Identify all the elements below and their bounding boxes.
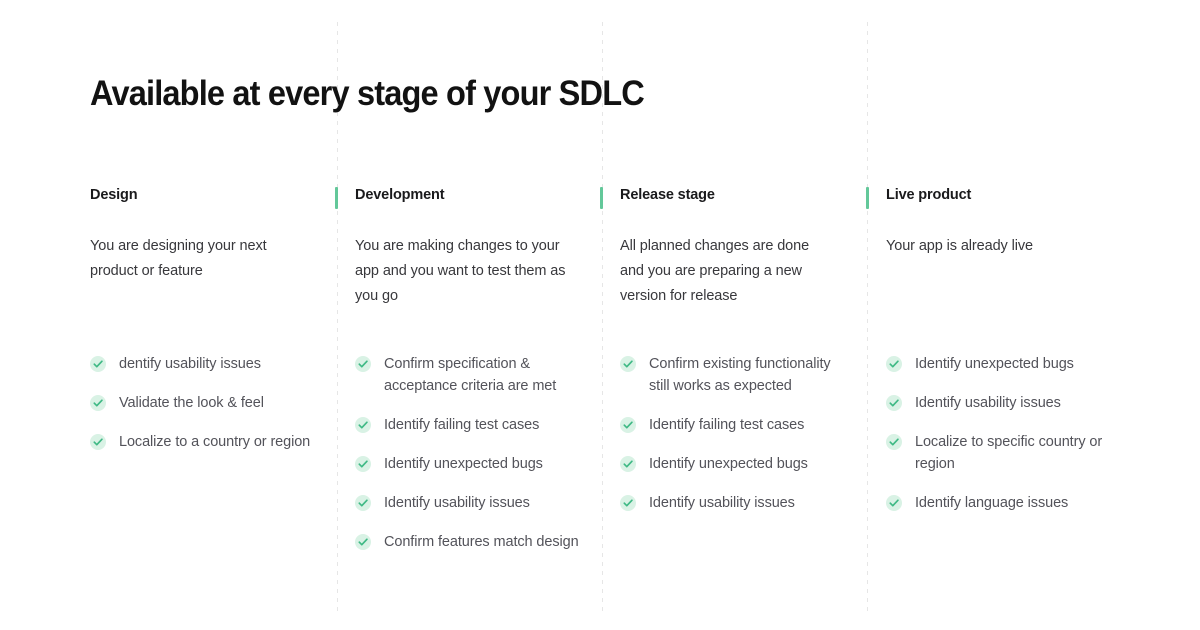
stage-column-header: Development — [355, 185, 585, 209]
checklist-item-label: Identify failing test cases — [649, 414, 804, 436]
check-circle-icon — [90, 356, 106, 372]
stage-column: Live productYour app is already liveIden… — [886, 185, 1116, 259]
checklist-item: Localize to specific country or region — [886, 431, 1118, 475]
checklist-item: Identify unexpected bugs — [355, 453, 587, 475]
checklist-item: Identify failing test cases — [355, 414, 587, 436]
checklist-item-label: Identify failing test cases — [384, 414, 539, 436]
checklist-item: Validate the look & feel — [90, 392, 322, 414]
stage-column-description: Your app is already live — [886, 234, 1101, 259]
stage-checklist: Identify unexpected bugsIdentify usabili… — [886, 353, 1118, 531]
accent-bar — [866, 187, 869, 209]
check-circle-icon — [90, 434, 106, 450]
checklist-item-label: Confirm existing functionality still wor… — [649, 353, 852, 397]
checklist-item-label: Identify unexpected bugs — [649, 453, 808, 475]
checklist-item: Identify failing test cases — [620, 414, 852, 436]
stage-column-description: You are making changes to your app and y… — [355, 234, 570, 309]
check-circle-icon — [355, 356, 371, 372]
stage-column: DevelopmentYou are making changes to you… — [355, 185, 585, 309]
check-circle-icon — [355, 495, 371, 511]
check-circle-icon — [620, 456, 636, 472]
page-title: Available at every stage of your SDLC — [90, 72, 644, 116]
stage-checklist: Confirm existing functionality still wor… — [620, 353, 852, 531]
stage-column-description: You are designing your next product or f… — [90, 234, 305, 284]
check-circle-icon — [355, 456, 371, 472]
column-divider-3 — [867, 22, 868, 612]
checklist-item-label: Identify usability issues — [915, 392, 1061, 414]
checklist-item-label: Identify usability issues — [384, 492, 530, 514]
stage-column: DesignYou are designing your next produc… — [90, 185, 320, 284]
checklist-item-label: Validate the look & feel — [119, 392, 264, 414]
stage-column: Release stageAll planned changes are don… — [620, 185, 850, 309]
check-circle-icon — [886, 495, 902, 511]
stage-checklist: dentify usability issuesValidate the loo… — [90, 353, 322, 470]
checklist-item-label: Identify unexpected bugs — [915, 353, 1074, 375]
check-circle-icon — [886, 356, 902, 372]
checklist-item: Identify usability issues — [620, 492, 852, 514]
accent-bar — [335, 187, 338, 209]
check-circle-icon — [886, 395, 902, 411]
checklist-item: Identify language issues — [886, 492, 1118, 514]
stage-column-header: Design — [90, 185, 320, 209]
checklist-item: Identify usability issues — [355, 492, 587, 514]
checklist-item: Confirm existing functionality still wor… — [620, 353, 852, 397]
checklist-item-label: Confirm specification & acceptance crite… — [384, 353, 587, 397]
accent-bar — [600, 187, 603, 209]
check-circle-icon — [620, 356, 636, 372]
checklist-item-label: Localize to specific country or region — [915, 431, 1118, 475]
check-circle-icon — [886, 434, 902, 450]
checklist-item-label: Localize to a country or region — [119, 431, 310, 453]
check-circle-icon — [355, 534, 371, 550]
infographic-stage: Available at every stage of your SDLC De… — [0, 0, 1200, 630]
check-circle-icon — [355, 417, 371, 433]
stage-column-description: All planned changes are done and you are… — [620, 234, 835, 309]
stage-column-title: Design — [90, 185, 320, 205]
checklist-item: Identify unexpected bugs — [620, 453, 852, 475]
check-circle-icon — [90, 395, 106, 411]
checklist-item-label: Identify language issues — [915, 492, 1068, 514]
checklist-item-label: Identify usability issues — [649, 492, 795, 514]
stage-column-title: Live product — [886, 185, 1116, 205]
checklist-item: Identify unexpected bugs — [886, 353, 1118, 375]
checklist-item: Confirm specification & acceptance crite… — [355, 353, 587, 397]
stage-column-header: Live product — [886, 185, 1116, 209]
stage-column-header: Release stage — [620, 185, 850, 209]
checklist-item: Confirm features match design — [355, 531, 587, 553]
stage-column-title: Development — [355, 185, 585, 205]
checklist-item: Localize to a country or region — [90, 431, 322, 453]
checklist-item-label: Identify unexpected bugs — [384, 453, 543, 475]
checklist-item-label: Confirm features match design — [384, 531, 579, 553]
checklist-item: dentify usability issues — [90, 353, 322, 375]
checklist-item: Identify usability issues — [886, 392, 1118, 414]
check-circle-icon — [620, 495, 636, 511]
checklist-item-label: dentify usability issues — [119, 353, 261, 375]
stage-checklist: Confirm specification & acceptance crite… — [355, 353, 587, 570]
stage-column-title: Release stage — [620, 185, 850, 205]
check-circle-icon — [620, 417, 636, 433]
